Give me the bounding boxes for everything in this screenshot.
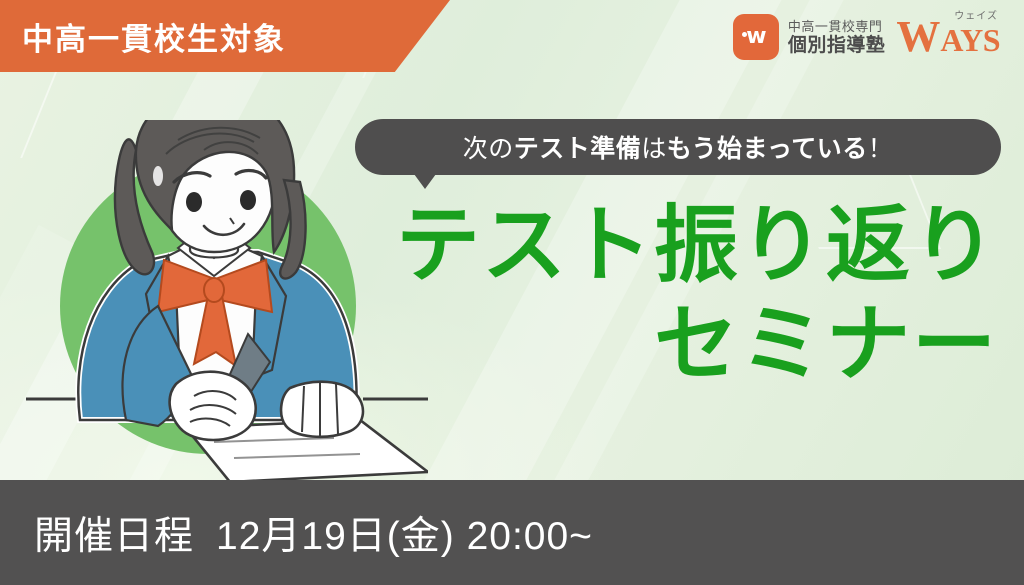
headline-line-2: セミナー: [370, 295, 998, 394]
logo-tagline-top: 中高一貫校専門: [788, 20, 886, 33]
logo-brand-initial: W: [896, 17, 940, 57]
tagline-part-4: もう始まっている: [667, 135, 868, 163]
tagline-speech-bubble: 次のテスト準備はもう始まっている！: [355, 119, 1001, 175]
ways-logo[interactable]: w 中高一貫校専門 個別指導塾 ウェイズ W AYS: [733, 11, 1000, 63]
ways-logo-mark-icon: w: [733, 14, 779, 60]
logo-dot-icon: [742, 32, 747, 37]
logo-tagline-bottom: 個別指導塾: [788, 36, 886, 55]
speech-bubble-tail-icon: [414, 174, 436, 189]
logo-w-glyph: w: [746, 26, 765, 48]
student-writing-illustration: [8, 120, 428, 480]
logo-brand-rest: AYS: [940, 26, 1000, 55]
tagline-text: 次のテスト準備はもう始まっている！: [463, 129, 894, 165]
target-audience-label: 中高一貫校生対象: [22, 14, 286, 59]
tagline-part-3: は: [641, 135, 667, 163]
tagline-part-2: テスト準備: [514, 135, 642, 163]
event-date-value: 12月19日(金) 20:00~: [216, 505, 593, 561]
headline-line-1: テスト振り返り: [370, 196, 998, 295]
event-date-label: 開催日程: [34, 505, 194, 561]
tagline-part-5: ！: [868, 135, 894, 163]
event-date-content: 開催日程 12月19日(金) 20:00~: [34, 505, 593, 561]
logo-brand-wordmark: ウェイズ W AYS: [896, 17, 1000, 57]
logo-japanese-text: 中高一貫校専門 個別指導塾: [788, 20, 886, 55]
seminar-banner: 中高一貫校生対象 w 中高一貫校専門 個別指導塾 ウェイズ W AYS 次のテス…: [0, 0, 1024, 585]
tagline-part-1: 次の: [463, 135, 514, 163]
target-audience-ribbon: 中高一貫校生対象: [0, 0, 450, 72]
event-date-bar: 開催日程 12月19日(金) 20:00~: [0, 480, 1024, 585]
logo-furigana: ウェイズ: [954, 7, 998, 22]
seminar-headline: テスト振り返り セミナー: [370, 196, 998, 394]
